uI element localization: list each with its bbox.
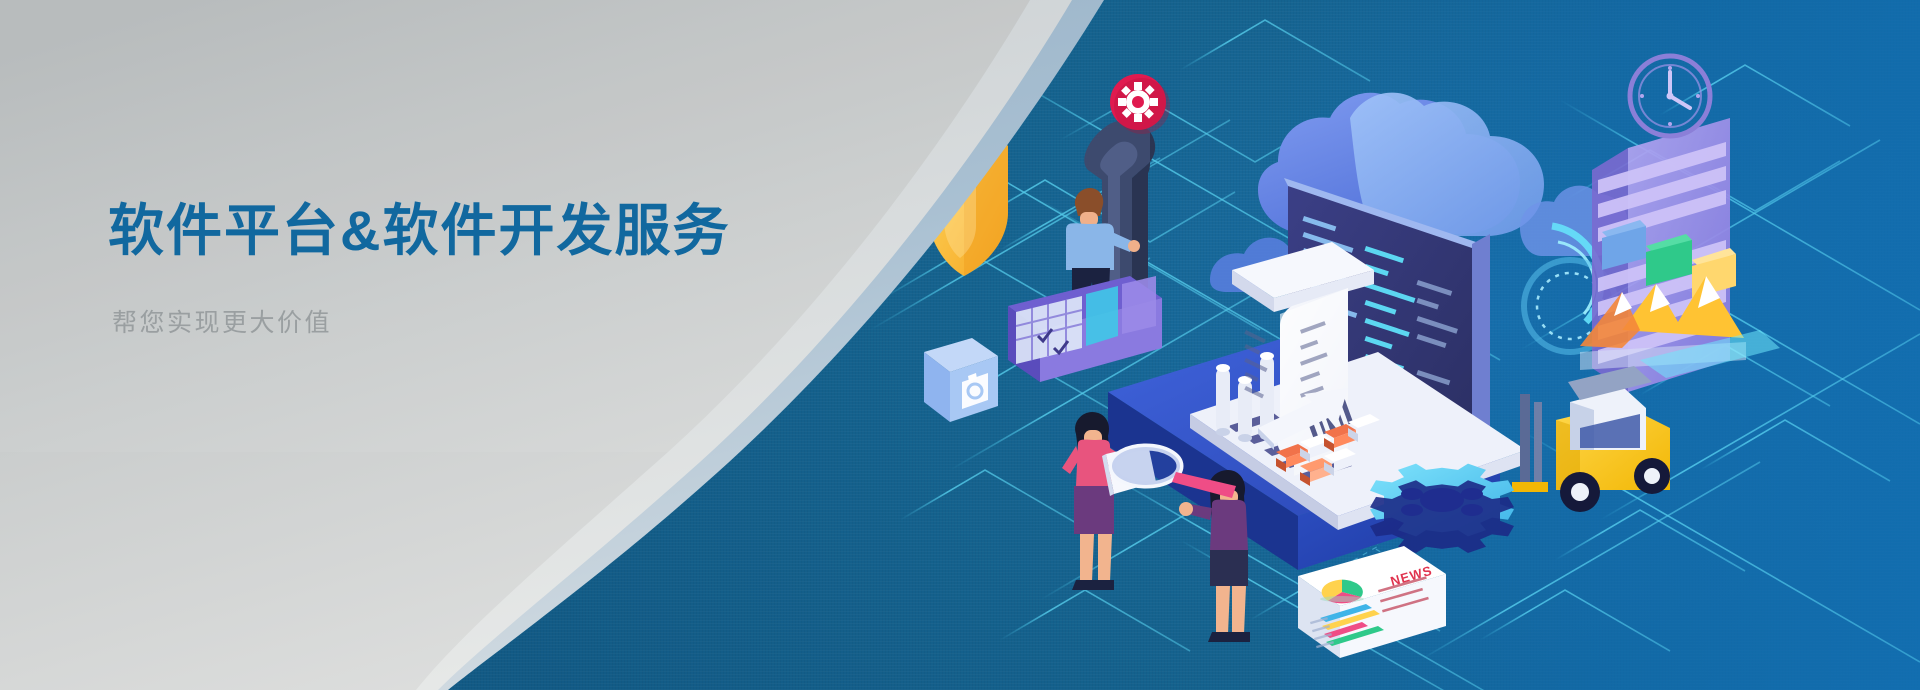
grey-sweep-overlay	[0, 0, 1920, 690]
hero-text-block: 软件平台&软件开发服务 帮您实现更大价值	[108, 196, 868, 341]
hero-banner: NEWS	[0, 0, 1920, 690]
page-title: 软件平台&软件开发服务	[108, 196, 868, 266]
page-subtitle: 帮您实现更大价值	[112, 306, 868, 341]
